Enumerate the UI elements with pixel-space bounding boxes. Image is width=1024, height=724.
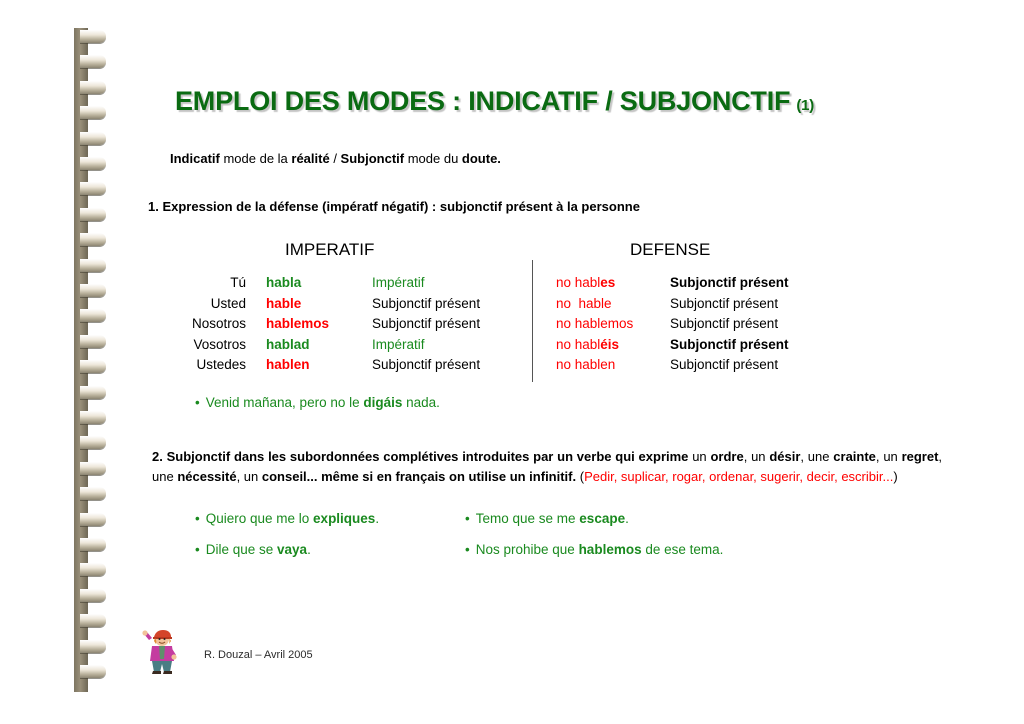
- example-left-bold: expliques: [313, 511, 375, 526]
- row-imperative-verb: hablen: [266, 357, 310, 372]
- subtitle-indicatif: Indicatif: [170, 151, 220, 166]
- binding-loop: [80, 589, 106, 602]
- page-title-text: EMPLOI DES MODES : INDICATIF / SUBJONCTI…: [175, 86, 790, 116]
- section-1-example-bold: digáis: [363, 395, 402, 410]
- section-2-seg-6: , une: [800, 449, 833, 464]
- row-defense-mode: Subjonctif présent: [670, 316, 778, 331]
- section-2-ordre: ordre: [710, 449, 743, 464]
- binding-loop: [80, 563, 106, 576]
- row-imperative-mode: Subjonctif présent: [372, 316, 480, 331]
- section-2-seg-8: , un: [876, 449, 902, 464]
- binding-loop: [80, 513, 106, 526]
- row-imperative-mode: Subjonctif présent: [372, 296, 480, 311]
- example-left: •Quiero que me lo expliques.: [195, 511, 379, 526]
- binding-loop: [80, 335, 106, 348]
- table-body: TúhablaImpératifno hablesSubjonctif prés…: [150, 275, 890, 378]
- binding-loop: [80, 436, 106, 449]
- binding-loop: [80, 360, 106, 373]
- subtitle-line: Indicatif mode de la réalité / Subjoncti…: [170, 151, 501, 166]
- footer-credit: R. Douzal – Avril 2005: [204, 649, 313, 661]
- section-2-paren-close: ): [893, 469, 897, 484]
- section-2-necessite: nécessité: [177, 469, 236, 484]
- row-defense-mode: Subjonctif présent: [670, 275, 789, 290]
- binding-loop: [80, 233, 106, 246]
- binding-loop: [80, 157, 106, 170]
- subtitle-doute: doute.: [462, 151, 501, 166]
- binding-loop: [80, 284, 106, 297]
- row-pronoun: Nosotros: [150, 316, 246, 331]
- row-imperative-verb: hablad: [266, 337, 310, 352]
- page-title-superscript: (1): [796, 97, 814, 114]
- section-2-conseil: conseil: [262, 469, 307, 484]
- section-2-paragraph: 2. Subjonctif dans les subordonnées comp…: [152, 447, 942, 487]
- example-right: •Temo que se me escape.: [465, 511, 629, 526]
- example-row: •Dile que se vaya.•Nos prohibe que hable…: [195, 542, 895, 573]
- bullet-icon: •: [465, 542, 470, 557]
- row-imperative-verb: habla: [266, 275, 301, 290]
- table-row: TúhablaImpératifno hablesSubjonctif prés…: [150, 275, 890, 296]
- binding-loop: [80, 386, 106, 399]
- page-title: EMPLOI DES MODES : INDICATIF / SUBJONCTI…: [175, 86, 814, 117]
- row-negative-form: no hables: [556, 275, 615, 290]
- row-negative-form: no hablemos: [556, 316, 633, 331]
- row-pronoun: Ustedes: [150, 357, 246, 372]
- negative-suffix: es: [600, 275, 615, 290]
- binding-loop: [80, 81, 106, 94]
- row-imperative-verb: hablemos: [266, 316, 329, 331]
- binding-loop: [80, 411, 106, 424]
- binding-loop: [80, 208, 106, 221]
- binding-loop: [80, 259, 106, 272]
- row-negative-form: no habléis: [556, 337, 619, 352]
- table-header-imperatif: IMPERATIF: [285, 240, 374, 260]
- section-2-seg-4: , un: [744, 449, 770, 464]
- example-right: •Nos prohibe que hablemos de ese tema.: [465, 542, 723, 557]
- row-imperative-mode: Impératif: [372, 337, 425, 352]
- row-pronoun: Tú: [150, 275, 246, 290]
- bullet-icon: •: [465, 511, 470, 526]
- binding-loop: [80, 182, 106, 195]
- section-2-spanish-verbs: Pedir, suplicar, rogar, ordenar, sugerir…: [584, 469, 893, 484]
- section-2-seg-12: , un: [237, 469, 262, 484]
- spiral-binding: [74, 28, 108, 692]
- row-negative-form: no hablen: [556, 357, 615, 372]
- table-row: UstedeshablenSubjonctif présentno hablen…: [150, 357, 890, 378]
- section-2-desir: désir: [769, 449, 800, 464]
- binding-loop: [80, 640, 106, 653]
- section-2-examples: •Quiero que me lo expliques.•Temo que se…: [195, 511, 895, 573]
- binding-loop: [80, 30, 106, 43]
- table-header-defense: DEFENSE: [630, 240, 710, 260]
- subtitle-subjonctif: Subjonctif: [341, 151, 405, 166]
- row-defense-mode: Subjonctif présent: [670, 337, 789, 352]
- binding-loop: [80, 55, 106, 68]
- example-left-bold: vaya: [277, 542, 307, 557]
- binding-loop: [80, 132, 106, 145]
- row-pronoun: Vosotros: [150, 337, 246, 352]
- section-1-heading: 1. Expression de la défense (impératf né…: [148, 199, 640, 214]
- row-imperative-mode: Impératif: [372, 275, 425, 290]
- binding-loop: [80, 665, 106, 678]
- example-right-bold: hablemos: [579, 542, 642, 557]
- binding-loop: [80, 538, 106, 551]
- example-left: •Dile que se vaya.: [195, 542, 311, 557]
- subtitle-separator: /: [330, 151, 341, 166]
- subtitle-text-1: mode de la: [220, 151, 292, 166]
- row-defense-mode: Subjonctif présent: [670, 296, 778, 311]
- bullet-icon: •: [195, 395, 200, 410]
- section-2-seg-14: ... même si en français on utilise un in…: [307, 469, 576, 484]
- bullet-icon: •: [195, 511, 200, 526]
- section-2-regret: regret: [902, 449, 939, 464]
- section-1-example-text-2: nada.: [402, 395, 440, 410]
- section-2-paren-open: (: [576, 469, 584, 484]
- row-pronoun: Usted: [150, 296, 246, 311]
- section-2-seg-1: 2. Subjonctif dans les subordonnées comp…: [152, 449, 688, 464]
- binding-loop: [80, 487, 106, 500]
- section-1-example-text-1: Venid mañana, pero no le: [206, 395, 364, 410]
- row-negative-form: no hable: [556, 296, 612, 311]
- binding-loop: [80, 462, 106, 475]
- binding-loop: [80, 309, 106, 322]
- example-right-bold: escape: [579, 511, 625, 526]
- row-imperative-verb: hable: [266, 296, 301, 311]
- subtitle-realite: réalité: [291, 151, 329, 166]
- section-2-seg-2: un: [688, 449, 710, 464]
- example-row: •Quiero que me lo expliques.•Temo que se…: [195, 511, 895, 542]
- row-defense-mode: Subjonctif présent: [670, 357, 778, 372]
- bullet-icon: •: [195, 542, 200, 557]
- binding-loop: [80, 614, 106, 627]
- section-2-crainte: crainte: [833, 449, 876, 464]
- row-imperative-mode: Subjonctif présent: [372, 357, 480, 372]
- subtitle-text-2: mode du: [404, 151, 462, 166]
- table-row: UstedhableSubjonctif présentno hableSubj…: [150, 296, 890, 317]
- binding-loop: [80, 106, 106, 119]
- section-1-example: •Venid mañana, pero no le digáis nada.: [195, 395, 440, 410]
- cartoon-character-icon: [141, 628, 183, 674]
- table-row: NosotroshablemosSubjonctif présentno hab…: [150, 316, 890, 337]
- negative-suffix: éis: [600, 337, 619, 352]
- table-row: VosotroshabladImpératifno habléisSubjonc…: [150, 337, 890, 358]
